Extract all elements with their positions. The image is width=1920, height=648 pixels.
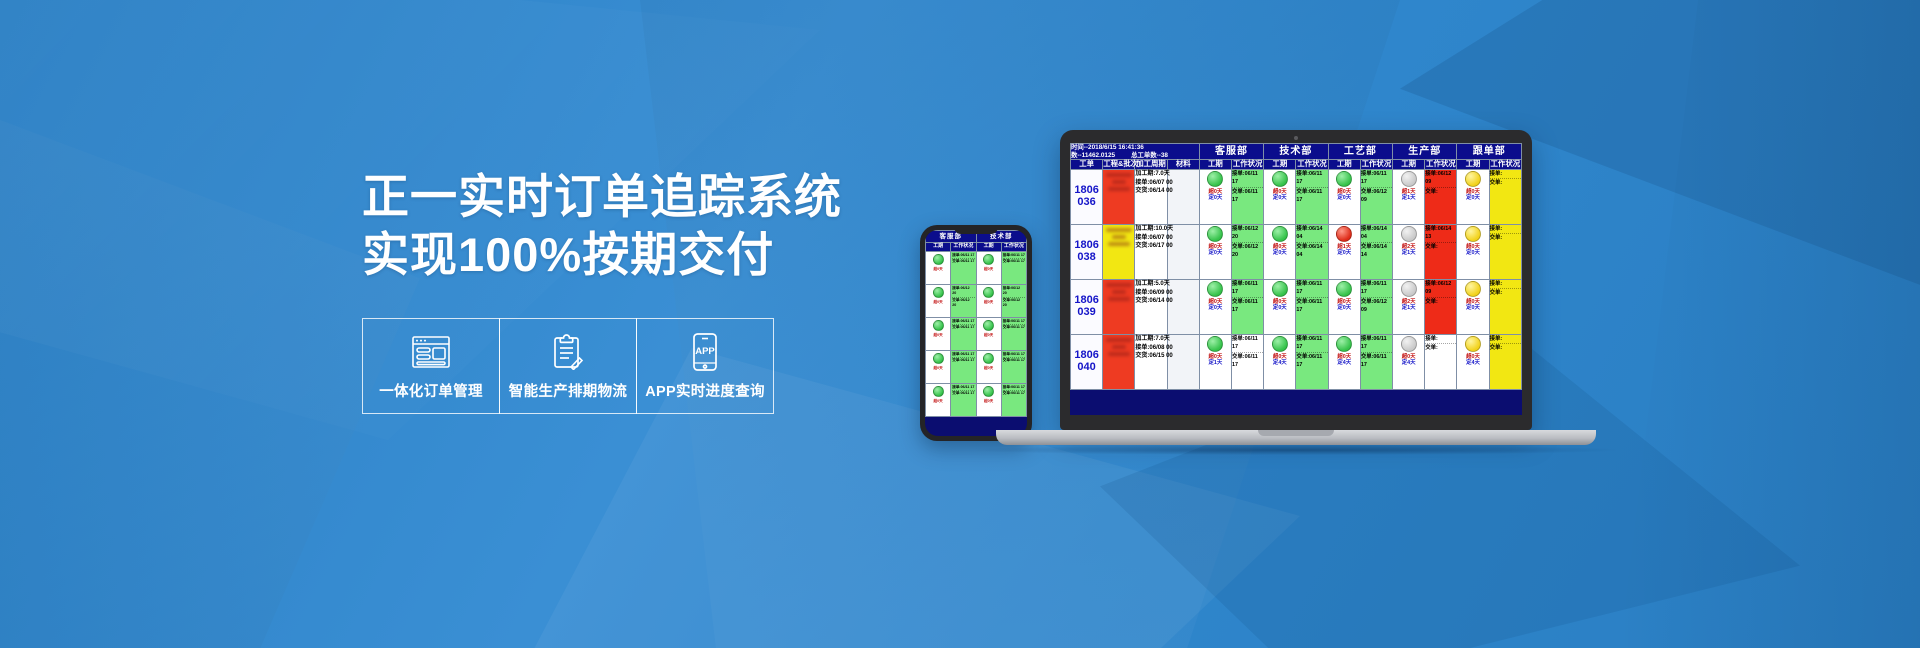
clipboard-pencil-icon [552, 332, 584, 372]
work-status-cell-dept-0: 接单:06/11 17交单:06/11 17 [1232, 279, 1264, 334]
status-indicator-yellow [1465, 336, 1481, 352]
phone-table-body: 超0天接单:06/11 17交单:06/11 17超0天接单:06/11 17交… [926, 251, 1027, 416]
status-indicator-yellow [1465, 226, 1481, 242]
project-batch-cell [1103, 334, 1135, 389]
status-delivered-line: 交单: [1490, 289, 1521, 297]
cycle-line: 接单:06/07 00 [1135, 234, 1166, 243]
feature-label: APP实时进度查询 [645, 380, 765, 401]
status-received-line: 接单:06/12 09 [1425, 280, 1456, 298]
status-delivered-line: 交单:06/14 14 [1361, 243, 1392, 259]
status-delivered-line: 交单:06/11 17 [1296, 353, 1327, 369]
phone-duration-cell-1: 超0天 [976, 317, 1001, 350]
column-header-dept-2-status: 工作状况 [1360, 160, 1392, 170]
status-received-line: 接单:06/14 04 [1361, 225, 1392, 243]
work-status-cell-dept-3: 接单:交单: [1425, 334, 1457, 389]
duration-cell-dept-1: 超0天定0天 [1264, 224, 1296, 279]
feature-list: 一体化订单管理 智能生产排期物流 [362, 318, 922, 414]
laptop-base-notch [1258, 430, 1334, 436]
status-indicator-green [933, 287, 944, 298]
feature-item-app-progress-query[interactable]: APP APP实时进度查询 [636, 318, 774, 414]
phone-col-status: 工作状况 [951, 242, 976, 251]
headline-line-2: 实现100%按期交付 [362, 226, 922, 284]
phone-duration-cell-0: 超0天 [926, 317, 951, 350]
column-header-dept-4-duration: 工期 [1457, 160, 1489, 170]
material-cell [1167, 169, 1199, 224]
status-indicator-grey [1401, 336, 1417, 352]
dashboard-column-header-row: 工单工程&批次加工周期材料工期工作状况工期工作状况工期工作状况工期工作状况工期工… [1071, 160, 1522, 170]
work-status-cell-dept-3: 接单:06/14 13交单: [1425, 224, 1457, 279]
status-delivered-line: 交单:06/11 17 [1232, 353, 1263, 369]
phone-overdue-note: 超0天 [926, 300, 950, 304]
svg-text:APP: APP [695, 346, 715, 357]
duration-cell-dept-3: 超2天定1天 [1393, 279, 1425, 334]
phone-col-duration: 工期 [976, 242, 1001, 251]
cycle-line: 交货:06/14 00 [1135, 187, 1166, 196]
cycle-line: 加工期:5.0天 [1135, 280, 1166, 289]
phone-table-row[interactable]: 超0天接单:06/11 17交单:06/11 17超0天接单:06/11 17交… [926, 350, 1027, 383]
mobile-app-icon: APP [692, 332, 718, 372]
phone-mockup: 客服部 技术部 工期 工作状况 工期 工作状况 超0天接单: [920, 225, 1032, 441]
column-header-dept-2-duration: 工期 [1328, 160, 1360, 170]
planned-note: 定4天 [1329, 360, 1360, 366]
phone-status-delivered-line: 交单:06/12 20 [952, 298, 974, 309]
dept-header-technical: 技术部 [1264, 144, 1328, 160]
phone-overdue-note: 超0天 [977, 267, 1001, 271]
phone-table-row[interactable]: 超0天接单:06/11 17交单:06/11 17超0天接单:06/11 17交… [926, 251, 1027, 284]
cycle-line: 接单:06/09 00 [1135, 289, 1166, 298]
status-received-line: 接单:06/11 17 [1296, 280, 1327, 298]
dashboard-time: 时间--2018/6/15 16:41:36 [1071, 144, 1199, 152]
column-header-dept-3-duration: 工期 [1393, 160, 1425, 170]
project-batch-text [1103, 173, 1134, 191]
duration-cell-dept-4: 超0天定0天 [1457, 224, 1489, 279]
work-status-cell-dept-4: 接单:交单: [1489, 279, 1521, 334]
cycle-line: 交货:06/17 00 [1135, 242, 1166, 251]
processing-cycle-cell: 加工期:10.0天接单:06/07 00交货:06/17 00 [1135, 224, 1167, 279]
column-header-dept-0-duration: 工期 [1199, 160, 1231, 170]
status-indicator-yellow [1465, 171, 1481, 187]
planned-note: 定0天 [1200, 305, 1231, 311]
status-indicator-yellow [1465, 281, 1481, 297]
phone-duration-cell-1: 超0天 [976, 383, 1001, 416]
phone-status-delivered-line: 交单:06/11 17 [1003, 391, 1025, 396]
planned-note: 定4天 [1264, 360, 1295, 366]
planned-note: 定0天 [1264, 195, 1295, 201]
background-facet [1620, 0, 1920, 648]
status-indicator-green [1336, 336, 1352, 352]
status-delivered-line: 交单:06/12 09 [1361, 298, 1392, 314]
status-delivered-line: 交单: [1425, 243, 1456, 251]
laptop-screen[interactable]: 时间--2018/6/15 16:41:36 数--11462.0125 总工单… [1070, 143, 1522, 415]
work-status-cell-dept-4: 接单:交单: [1489, 169, 1521, 224]
status-received-line: 接单: [1490, 170, 1521, 180]
duration-cell-dept-0: 超0天定0天 [1199, 279, 1231, 334]
duration-cell-dept-2: 超0天定0天 [1328, 169, 1360, 224]
status-indicator-green [983, 254, 994, 265]
status-indicator-green [1272, 336, 1288, 352]
status-received-line: 接单:06/11 17 [1296, 335, 1327, 353]
phone-dashboard-table: 客服部 技术部 工期 工作状况 工期 工作状况 超0天接单: [925, 230, 1027, 417]
phone-duration-cell-0: 超0天 [926, 350, 951, 383]
cycle-line: 交货:06/15 00 [1135, 352, 1166, 361]
work-status-cell-dept-2: 接单:06/11 17交单:06/12 09 [1360, 169, 1392, 224]
status-received-line: 接单:06/11 17 [1361, 335, 1392, 353]
column-header-dept-3-status: 工作状况 [1425, 160, 1457, 170]
phone-body: 客服部 技术部 工期 工作状况 工期 工作状况 超0天接单: [920, 225, 1032, 441]
dashboard-total: 总工单数--38 [1131, 152, 1168, 160]
column-header-dept-1-duration: 工期 [1264, 160, 1296, 170]
planned-note: 定1天 [1393, 195, 1424, 201]
status-received-line: 接单: [1490, 280, 1521, 290]
material-cell [1167, 334, 1199, 389]
planned-note: 定1天 [1200, 360, 1231, 366]
work-order-number: 1806039 [1071, 279, 1103, 334]
phone-work-status-cell-1: 接单:06/11 17交单:06/11 17 [1001, 383, 1026, 416]
status-delivered-line: 交单: [1490, 179, 1521, 187]
headline-line-1: 正一实时订单追踪系统 [362, 168, 922, 226]
status-indicator-green [1207, 336, 1223, 352]
phone-overdue-note: 超0天 [926, 399, 950, 403]
phone-overdue-note: 超0天 [977, 333, 1001, 337]
work-order-number: 1806036 [1071, 169, 1103, 224]
phone-status-delivered-line: 交单:06/11 17 [1003, 358, 1025, 363]
status-delivered-line: 交单: [1425, 344, 1456, 352]
planned-note: 定4天 [1457, 360, 1488, 366]
feature-label: 智能生产排期物流 [509, 380, 627, 401]
phone-table-row[interactable]: 超0天接单:06/11 17交单:06/11 17超0天接单:06/11 17交… [926, 383, 1027, 416]
planned-note: 定0天 [1329, 195, 1360, 201]
status-indicator-grey [1401, 281, 1417, 297]
work-status-cell-dept-3: 接单:06/12 09交单: [1425, 169, 1457, 224]
status-indicator-green [983, 386, 994, 397]
work-status-cell-dept-0: 接单:06/12 20交单:06/12 20 [1232, 224, 1264, 279]
dept-header-order-follow: 跟单部 [1457, 144, 1522, 160]
status-indicator-grey [1401, 226, 1417, 242]
table-row[interactable]: 1806038加工期:10.0天接单:06/07 00交货:06/17 00超0… [1071, 224, 1522, 279]
phone-status-delivered-line: 交单:06/11 17 [1003, 259, 1025, 264]
planned-note: 定0天 [1200, 250, 1231, 256]
status-received-line: 接单:06/11 17 [1232, 335, 1263, 353]
planned-note: 定0天 [1457, 305, 1488, 311]
status-received-line: 接单: [1425, 335, 1456, 345]
planned-note: 定0天 [1264, 250, 1295, 256]
cycle-line: 加工期:7.0天 [1135, 170, 1166, 179]
status-received-line: 接单:06/11 17 [1296, 170, 1327, 188]
duration-cell-dept-4: 超0天定0天 [1457, 169, 1489, 224]
project-batch-cell [1103, 279, 1135, 334]
status-delivered-line: 交单: [1490, 344, 1521, 352]
work-status-cell-dept-1: 接单:06/11 17交单:06/11 17 [1296, 279, 1328, 334]
project-batch-cell [1103, 224, 1135, 279]
column-header-2: 加工周期 [1135, 160, 1167, 170]
feature-item-production-scheduling[interactable]: 智能生产排期物流 [499, 318, 637, 414]
laptop-lid: 时间--2018/6/15 16:41:36 数--11462.0125 总工单… [1060, 130, 1532, 430]
status-received-line: 接单: [1490, 335, 1521, 345]
processing-cycle-cell: 加工期:7.0天接单:06/07 00交货:06/14 00 [1135, 169, 1167, 224]
status-delivered-line: 交单:06/11 17 [1232, 298, 1263, 314]
phone-work-status-cell-0: 接单:06/12 20交单:06/12 20 [951, 284, 976, 317]
planned-note: 定0天 [1200, 195, 1231, 201]
status-delivered-line: 交单:06/12 20 [1232, 243, 1263, 259]
phone-overdue-note: 超0天 [926, 267, 950, 271]
work-status-cell-dept-3: 接单:06/12 09交单: [1425, 279, 1457, 334]
phone-duration-cell-0: 超0天 [926, 284, 951, 317]
status-delivered-line: 交单:06/11 17 [1296, 298, 1327, 314]
status-indicator-green [933, 353, 944, 364]
table-row[interactable]: 1806036加工期:7.0天接单:06/07 00交货:06/14 00超0天… [1071, 169, 1522, 224]
work-status-cell-dept-0: 接单:06/11 17交单:06/11 17 [1232, 334, 1264, 389]
phone-col-status: 工作状况 [1001, 242, 1026, 251]
webcam-icon [1294, 136, 1298, 140]
phone-status-delivered-line: 交单:06/12 20 [1003, 298, 1025, 309]
status-received-line: 接单:06/11 17 [1361, 280, 1392, 298]
phone-status-delivered-line: 交单:06/11 17 [952, 325, 974, 330]
status-received-line: 接单:06/14 13 [1425, 225, 1456, 243]
project-batch-text [1103, 283, 1134, 301]
work-status-cell-dept-2: 接单:06/11 17交单:06/12 09 [1360, 279, 1392, 334]
duration-cell-dept-4: 超0天定0天 [1457, 279, 1489, 334]
hero-copy: 正一实时订单追踪系统 实现100%按期交付 [362, 168, 922, 414]
dept-header-process: 工艺部 [1328, 144, 1392, 160]
status-delivered-line: 交单: [1425, 298, 1456, 306]
status-indicator-green [983, 353, 994, 364]
work-status-cell-dept-4: 接单:交单: [1489, 334, 1521, 389]
phone-work-status-cell-0: 接单:06/11 17交单:06/11 17 [951, 317, 976, 350]
phone-status-delivered-line: 交单:06/11 17 [1003, 325, 1025, 330]
planned-note: 定4天 [1393, 360, 1424, 366]
status-indicator-green [1207, 226, 1223, 242]
phone-column-header-row: 工期 工作状况 工期 工作状况 [926, 242, 1027, 251]
status-indicator-green [983, 287, 994, 298]
status-delivered-line: 交单: [1490, 234, 1521, 242]
planned-note: 定0天 [1457, 250, 1488, 256]
planned-note: 定0天 [1329, 250, 1360, 256]
phone-table-row[interactable]: 超0天接单:06/11 17交单:06/11 17超0天接单:06/11 17交… [926, 317, 1027, 350]
feature-label: 一体化订单管理 [379, 380, 483, 401]
duration-cell-dept-3: 超0天定4天 [1393, 334, 1425, 389]
phone-status-received-line: 接单:06/12 20 [1003, 286, 1025, 298]
background-facet [0, 120, 420, 648]
dashboard-table-body: 1806036加工期:7.0天接单:06/07 00交货:06/14 00超0天… [1071, 169, 1522, 389]
phone-duration-cell-0: 超0天 [926, 383, 951, 416]
phone-status-delivered-line: 交单:06/11 17 [952, 358, 974, 363]
duration-cell-dept-2: 超0天定4天 [1328, 334, 1360, 389]
column-header-3: 材料 [1167, 160, 1199, 170]
column-header-1: 工程&批次 [1103, 160, 1135, 170]
duration-cell-dept-1: 超0天定0天 [1264, 279, 1296, 334]
work-status-cell-dept-1: 接单:06/14 04交单:06/14 04 [1296, 224, 1328, 279]
duration-cell-dept-0: 超0天定0天 [1199, 224, 1231, 279]
planned-note: 定1天 [1393, 250, 1424, 256]
status-indicator-green [1336, 281, 1352, 297]
dashboard-meta: 时间--2018/6/15 16:41:36 数--11462.0125 总工单… [1071, 144, 1200, 160]
laptop-mockup: 时间--2018/6/15 16:41:36 数--11462.0125 总工单… [1060, 130, 1616, 455]
status-indicator-green [1272, 226, 1288, 242]
work-status-cell-dept-4: 接单:交单: [1489, 224, 1521, 279]
dept-header-customer-service: 客服部 [1199, 144, 1263, 160]
column-header-dept-4-status: 工作状况 [1489, 160, 1521, 170]
planned-note: 定0天 [1457, 195, 1488, 201]
planned-note: 定0天 [1264, 305, 1295, 311]
duration-cell-dept-2: 超0天定0天 [1328, 279, 1360, 334]
material-cell [1167, 224, 1199, 279]
phone-work-status-cell-0: 接单:06/11 17交单:06/11 17 [951, 251, 976, 284]
order-tracking-dashboard: 时间--2018/6/15 16:41:36 数--11462.0125 总工单… [1070, 143, 1522, 390]
work-status-cell-dept-1: 接单:06/11 17交单:06/11 17 [1296, 169, 1328, 224]
project-batch-text [1103, 338, 1134, 356]
phone-work-status-cell-0: 接单:06/11 17交单:06/11 17 [951, 350, 976, 383]
cycle-line: 接单:06/07 00 [1135, 179, 1166, 188]
phone-overdue-note: 超0天 [926, 333, 950, 337]
cycle-line: 接单:06/08 00 [1135, 344, 1166, 353]
status-delivered-line: 交单:06/11 17 [1296, 188, 1327, 204]
status-indicator-green [1272, 171, 1288, 187]
work-status-cell-dept-2: 接单:06/11 17交单:06/11 17 [1360, 334, 1392, 389]
status-received-line: 接单:06/11 17 [1361, 170, 1392, 188]
order-tracking-table: 时间--2018/6/15 16:41:36 数--11462.0125 总工单… [1070, 143, 1522, 390]
phone-status-delivered-line: 交单:06/11 17 [952, 391, 974, 396]
duration-cell-dept-4: 超0天定4天 [1457, 334, 1489, 389]
phone-status-delivered-line: 交单:06/11 17 [952, 259, 974, 264]
status-indicator-green [933, 386, 944, 397]
phone-work-status-cell-0: 接单:06/11 17交单:06/11 17 [951, 383, 976, 416]
laptop-base [996, 430, 1596, 445]
duration-cell-dept-3: 超1天定1天 [1393, 169, 1425, 224]
phone-duration-cell-1: 超0天 [976, 284, 1001, 317]
project-batch-text [1103, 228, 1134, 246]
dashboard-count: 数--11462.0125 [1071, 152, 1115, 160]
phone-overdue-note: 超0天 [926, 366, 950, 370]
phone-duration-cell-1: 超0天 [976, 251, 1001, 284]
phone-dashboard: 客服部 技术部 工期 工作状况 工期 工作状况 超0天接单: [925, 230, 1027, 417]
phone-overdue-note: 超0天 [977, 366, 1001, 370]
duration-cell-dept-0: 超0天定0天 [1199, 169, 1231, 224]
column-header-dept-1-status: 工作状况 [1296, 160, 1328, 170]
work-status-cell-dept-0: 接单:06/11 17交单:06/11 17 [1232, 169, 1264, 224]
project-batch-cell [1103, 169, 1135, 224]
work-status-cell-dept-1: 接单:06/11 17交单:06/11 17 [1296, 334, 1328, 389]
status-delivered-line: 交单:06/11 17 [1361, 353, 1392, 369]
cycle-line: 加工期:7.0天 [1135, 335, 1166, 344]
status-indicator-green [1207, 171, 1223, 187]
duration-cell-dept-1: 超0天定4天 [1264, 334, 1296, 389]
cycle-line: 交货:06/14 00 [1135, 297, 1166, 306]
duration-cell-dept-3: 超2天定1天 [1393, 224, 1425, 279]
cycle-line: 加工期:10.0天 [1135, 225, 1166, 234]
work-order-number: 1806038 [1071, 224, 1103, 279]
status-received-line: 接单:06/11 17 [1232, 280, 1263, 298]
phone-table-row[interactable]: 超0天接单:06/12 20交单:06/12 20超0天接单:06/12 20交… [926, 284, 1027, 317]
column-header-dept-0-status: 工作状况 [1232, 160, 1264, 170]
dept-header-production: 生产部 [1393, 144, 1457, 160]
phone-duration-cell-1: 超0天 [976, 350, 1001, 383]
status-received-line: 接单:06/12 09 [1425, 170, 1456, 188]
status-delivered-line: 交单:06/11 17 [1232, 188, 1263, 204]
status-indicator-green [1336, 171, 1352, 187]
duration-cell-dept-0: 超0天定1天 [1199, 334, 1231, 389]
phone-work-status-cell-1: 接单:06/12 20交单:06/12 20 [1001, 284, 1026, 317]
status-received-line: 接单:06/14 04 [1296, 225, 1327, 243]
duration-cell-dept-1: 超0天定0天 [1264, 169, 1296, 224]
laptop-shadow [976, 445, 1616, 455]
processing-cycle-cell: 加工期:5.0天接单:06/09 00交货:06/14 00 [1135, 279, 1167, 334]
status-indicator-green [983, 320, 994, 331]
status-received-line: 接单:06/11 17 [1232, 170, 1263, 188]
phone-notch [954, 225, 998, 234]
work-order-number: 1806040 [1071, 334, 1103, 389]
promo-banner: 正一实时订单追踪系统 实现100%按期交付 [0, 0, 1920, 648]
status-indicator-grey [1401, 171, 1417, 187]
table-row[interactable]: 1806039加工期:5.0天接单:06/09 00交货:06/14 00超0天… [1071, 279, 1522, 334]
phone-status-received-line: 接单:06/12 20 [952, 286, 974, 298]
status-received-line: 接单: [1490, 225, 1521, 235]
status-received-line: 接单:06/12 20 [1232, 225, 1263, 243]
status-indicator-green [1207, 281, 1223, 297]
material-cell [1167, 279, 1199, 334]
phone-screen[interactable]: 客服部 技术部 工期 工作状况 工期 工作状况 超0天接单: [925, 230, 1027, 436]
dashboard-meta-row: 时间--2018/6/15 16:41:36 数--11462.0125 总工单… [1071, 144, 1522, 160]
status-delivered-line: 交单:06/14 04 [1296, 243, 1327, 259]
phone-overdue-note: 超0天 [977, 399, 1001, 403]
duration-cell-dept-2: 超1天定0天 [1328, 224, 1360, 279]
processing-cycle-cell: 加工期:7.0天接单:06/08 00交货:06/15 00 [1135, 334, 1167, 389]
status-indicator-green [933, 320, 944, 331]
status-delivered-line: 交单: [1425, 188, 1456, 196]
phone-work-status-cell-1: 接单:06/11 17交单:06/11 17 [1001, 317, 1026, 350]
planned-note: 定0天 [1329, 305, 1360, 311]
phone-work-status-cell-1: 接单:06/11 17交单:06/11 17 [1001, 251, 1026, 284]
phone-col-duration: 工期 [926, 242, 951, 251]
feature-item-order-management[interactable]: 一体化订单管理 [362, 318, 500, 414]
status-delivered-line: 交单:06/12 09 [1361, 188, 1392, 204]
table-row[interactable]: 1806040加工期:7.0天接单:06/08 00交货:06/15 00超0天… [1071, 334, 1522, 389]
work-status-cell-dept-2: 接单:06/14 04交单:06/14 14 [1360, 224, 1392, 279]
phone-work-status-cell-1: 接单:06/11 17交单:06/11 17 [1001, 350, 1026, 383]
column-header-0: 工单 [1071, 160, 1103, 170]
dashboard-window-icon [412, 332, 450, 372]
status-indicator-green [933, 254, 944, 265]
phone-duration-cell-0: 超0天 [926, 251, 951, 284]
planned-note: 定1天 [1393, 305, 1424, 311]
status-indicator-green [1272, 281, 1288, 297]
status-indicator-red [1336, 226, 1352, 242]
phone-overdue-note: 超0天 [977, 300, 1001, 304]
